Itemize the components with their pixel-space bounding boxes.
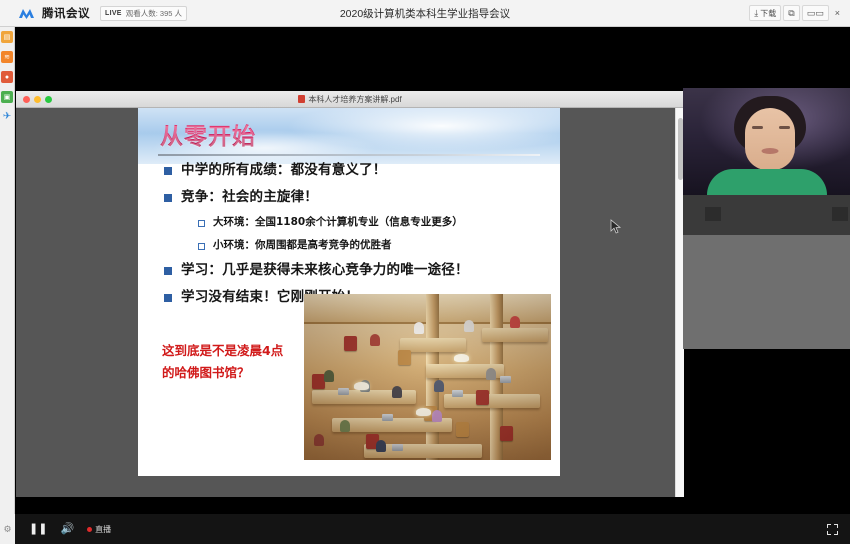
sub-bullet-square-icon <box>198 243 205 250</box>
toolbar-brand-group: 腾讯会议 LIVE 观看人数: 395 人 <box>0 5 187 21</box>
brand-name: 腾讯会议 <box>42 5 90 21</box>
settings-button[interactable]: ⚙ <box>0 514 15 544</box>
bullet-square-icon <box>164 194 172 202</box>
player-control-bar: ⚙ ❚❚ 🔊 直播 <box>0 514 850 544</box>
live-dot-icon <box>87 527 92 532</box>
mouse-cursor-icon <box>610 219 622 235</box>
red-note-line-1: 这到底是不是凌晨4点 <box>162 340 332 362</box>
close-button[interactable]: × <box>831 5 844 21</box>
speaker-mouth <box>761 148 778 154</box>
live-status-label: 直播 <box>95 524 111 535</box>
toolbar-actions: ⤓ 下载 ⧉ ▭▭ × <box>749 5 850 21</box>
sub-bullet-text: 小环境：你周围都是高考竞争的优胜者 <box>213 239 392 252</box>
live-meeting-page: 腾讯会议 LIVE 观看人数: 395 人 2020级计算机类本科生学业指导会议… <box>0 0 850 544</box>
close-icon: × <box>835 9 840 18</box>
pdf-document-title-group: 本科人才培养方案讲解.pdf <box>16 94 684 105</box>
pdf-document-title: 本科人才培养方案讲解.pdf <box>308 94 401 105</box>
viewer-count-label: 观看人数: 395 人 <box>126 8 182 19</box>
print-extension-icon[interactable]: ▣ <box>1 91 13 103</box>
pdf-titlebar: 本科人才培养方案讲解.pdf <box>16 91 684 108</box>
bullet-text: 中学的所有成绩：都没有意义了！ <box>181 162 387 178</box>
pdf-file-icon <box>298 95 305 103</box>
bird-extension-icon[interactable]: ✈ <box>1 111 13 123</box>
rss-extension-icon[interactable]: ≋ <box>1 51 13 63</box>
download-button[interactable]: ⤓ 下载 <box>749 5 781 21</box>
sub-bullet-item: 小环境：你周围都是高考竞争的优胜者 <box>138 239 560 252</box>
library-photo <box>304 294 551 460</box>
slide-bullet-list: 中学的所有成绩：都没有意义了！ 竞争：社会的主旋律！ 大环境：全国1180余个计… <box>138 162 560 316</box>
presentation-slide: 从零开始 中学的所有成绩：都没有意义了！ 竞争：社会的主旋律！ <box>138 108 560 476</box>
sub-bullet-text: 大环境：全国1180余个计算机专业（信息专业更多） <box>213 216 463 229</box>
bullet-item: 中学的所有成绩：都没有意义了！ <box>138 162 560 178</box>
live-status-chip[interactable]: 直播 <box>87 524 111 535</box>
speaker-skin <box>745 108 795 170</box>
playback-controls: ❚❚ 🔊 直播 <box>15 524 111 535</box>
webcam-empty-panel <box>683 235 850 349</box>
slide-title-divider <box>158 154 540 156</box>
speaker-face <box>734 96 806 180</box>
share-icon: ⧉ <box>788 9 794 18</box>
photo-vignette <box>304 294 551 460</box>
strip-block <box>705 207 721 221</box>
live-viewer-badge: LIVE 观看人数: 395 人 <box>100 6 187 21</box>
speaker-eye-right <box>779 126 790 129</box>
strip-block <box>832 207 848 221</box>
share-button[interactable]: ⧉ <box>783 5 799 21</box>
browser-toolbar: 腾讯会议 LIVE 观看人数: 395 人 2020级计算机类本科生学业指导会议… <box>0 0 850 27</box>
slide-title: 从零开始 <box>160 117 256 151</box>
shield-extension-icon[interactable]: ● <box>1 71 13 83</box>
sub-bullet-square-icon <box>198 220 205 227</box>
window-icon: ▭▭ <box>807 9 824 18</box>
bullet-item: 竞争：社会的主旋律！ <box>138 189 560 205</box>
speaker-eye-left <box>752 126 763 129</box>
bullet-square-icon <box>164 267 172 275</box>
browser-extension-rail: ▤ ≋ ● ▣ ✈ <box>0 27 15 544</box>
fullscreen-button[interactable] <box>827 524 838 535</box>
bullet-square-icon <box>164 294 172 302</box>
download-label: 下载 <box>760 8 776 19</box>
bullet-item: 学习：几乎是获得未来核心竞争力的唯一途径！ <box>138 262 560 278</box>
bullet-square-icon <box>164 167 172 175</box>
gear-icon: ⚙ <box>3 524 11 535</box>
download-icon: ⤓ <box>754 9 758 18</box>
notes-extension-icon[interactable]: ▤ <box>1 31 13 43</box>
volume-button[interactable]: 🔊 <box>60 524 74 535</box>
tencent-meeting-logo-icon <box>18 7 35 20</box>
shared-pdf-window: 本科人才培养方案讲解.pdf 从零开始 中学的所有成绩：都没有意义了！ <box>16 91 684 497</box>
pdf-viewport[interactable]: 从零开始 中学的所有成绩：都没有意义了！ 竞争：社会的主旋律！ <box>16 108 684 497</box>
bullet-text: 竞争：社会的主旋律！ <box>181 189 318 205</box>
speaker-shirt <box>707 169 827 195</box>
player-right-controls <box>827 524 850 535</box>
live-tag-label: LIVE <box>105 10 122 17</box>
webcam-lower-strip <box>683 195 850 235</box>
video-stage[interactable]: 本科人才培养方案讲解.pdf 从零开始 中学的所有成绩：都没有意义了！ <box>15 27 850 544</box>
bullet-text: 学习：几乎是获得未来核心竞争力的唯一途径！ <box>181 262 469 278</box>
pause-button[interactable]: ❚❚ <box>29 524 47 535</box>
slide-red-note: 这到底是不是凌晨4点 的哈佛图书馆？ <box>162 340 332 384</box>
speaker-webcam-video[interactable] <box>683 88 850 195</box>
sub-bullet-item: 大环境：全国1180余个计算机专业（信息专业更多） <box>138 216 560 229</box>
red-note-line-2: 的哈佛图书馆？ <box>162 362 332 384</box>
window-controls-button[interactable]: ▭▭ <box>802 5 829 21</box>
